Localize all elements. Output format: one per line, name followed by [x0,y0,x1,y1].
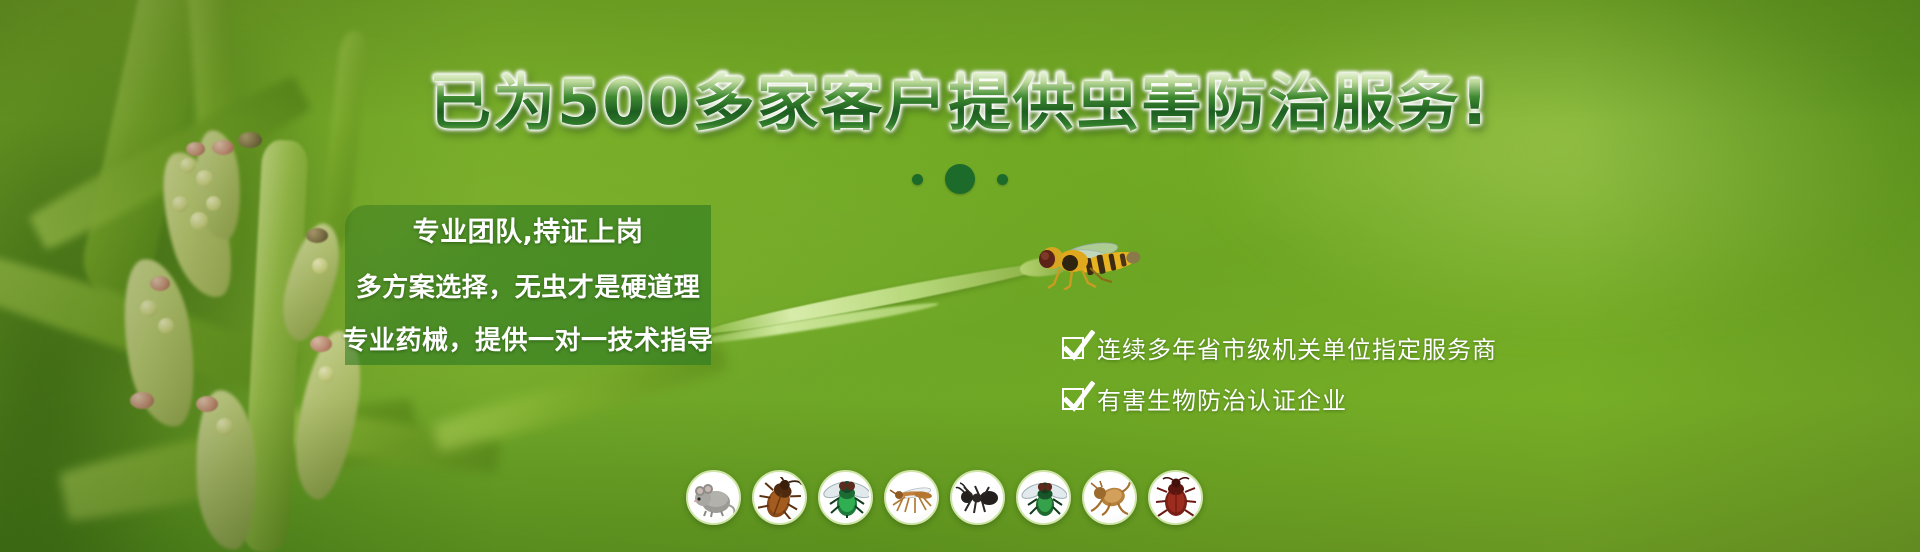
headline: 已为500多家客户提供虫害防治服务! 已为500多家客户提供虫害防治服务! [0,72,1920,134]
list-item: 连续多年省市级机关单位指定服务商 [1062,330,1497,365]
decor-dot-large-center [945,164,975,194]
headline-text: 已为500多家客户提供虫害防治服务! [429,72,1491,134]
decor-dot-small-left [912,174,923,185]
flea-icon[interactable] [1082,470,1137,525]
mosquito-icon[interactable] [884,470,939,525]
ant-icon[interactable] [950,470,1005,525]
mouse-icon[interactable] [686,470,741,525]
selling-point-line-2: 多方案选择，无虫才是硬道理 [356,267,701,304]
list-item: 有害生物防治认证企业 [1062,381,1497,416]
bedbug-icon[interactable] [1148,470,1203,525]
pest-type-icon-row [686,470,1203,525]
selling-points-panel: 专业团队,持证上岗 多方案选择，无虫才是硬道理 专业药械，提供一对一技术指导 [345,205,711,365]
credential-label: 连续多年省市级机关单位指定服务商 [1097,330,1497,365]
checkbox-checked-icon [1062,337,1084,359]
selling-point-line-1: 专业团队,持证上岗 [413,210,644,249]
checkbox-checked-icon [1062,388,1084,410]
decor-dot-small-right [997,174,1008,185]
credentials-list: 连续多年省市级机关单位指定服务商 有害生物防治认证企业 [1062,330,1497,416]
credential-label: 有害生物防治认证企业 [1097,381,1347,416]
greenfly-icon[interactable] [818,470,873,525]
selling-point-line-3: 专业药械，提供一对一技术指导 [343,320,714,357]
pest-control-hero-banner: 已为500多家客户提供虫害防治服务! 已为500多家客户提供虫害防治服务! 专业… [0,0,1920,552]
cockroach-icon[interactable] [752,470,807,525]
decor-dots [0,164,1920,194]
housefly-icon[interactable] [1016,470,1071,525]
